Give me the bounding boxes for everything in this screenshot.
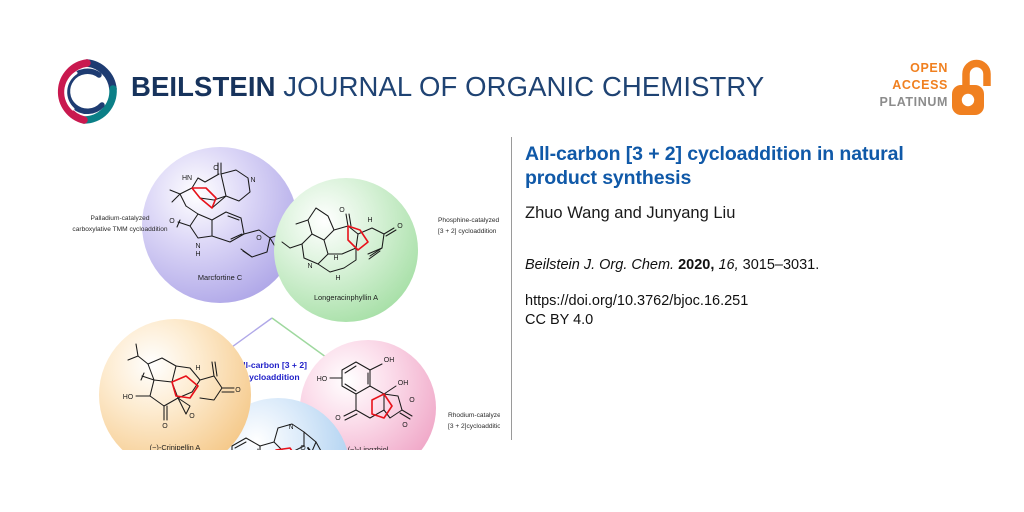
journal-brand: BEILSTEIN [131, 71, 276, 102]
crinipellin-atom-ho: HO [123, 394, 134, 401]
kopsanone-atom-n: N [288, 424, 293, 431]
open-access-line-platinum: PLATINUM [880, 94, 948, 111]
marcfortine-atom-o2: O [169, 218, 175, 225]
journal-name-rest: JOURNAL OF ORGANIC CHEMISTRY [276, 71, 765, 102]
crinipellin-atom-h: H [195, 365, 200, 372]
marcfortine-atom-n: N [250, 177, 255, 184]
page-header: BEILSTEIN JOURNAL OF ORGANIC CHEMISTRY O… [0, 0, 1024, 135]
crinipellin-atom-o: O [162, 423, 168, 430]
citation-volume: 16, [718, 257, 738, 273]
marcfortine-atom-hn: HN [182, 175, 192, 182]
label-rhodium: Rhodium-catalyzed [3 + 2]cycloaddition [448, 412, 500, 430]
open-access-line-open: OPEN [880, 60, 948, 77]
longera-atom-o: O [339, 207, 345, 214]
center-label-line1: All-carbon [3 + 2] [237, 360, 307, 370]
open-access-line-access: ACCESS [880, 77, 948, 94]
marcfortine-atom-o: O [213, 165, 219, 172]
crinipellin-atom-o2: O [189, 413, 195, 420]
label-phosphine: Phosphine-catalyzed [3 + 2] cycloadditio… [438, 217, 500, 235]
open-lock-icon [950, 59, 994, 117]
graphical-abstract: All-carbon [3 + 2] cycloaddition [20, 130, 500, 450]
citation-year: 2020, [678, 257, 714, 273]
longera-atom-n: N [307, 263, 312, 270]
citation-pages: 3015–3031. [743, 257, 820, 273]
article-info-panel: All-carbon [3 + 2] cycloaddition in natu… [525, 143, 955, 330]
svg-text:Rhodium-catalyzed: Rhodium-catalyzed [448, 412, 500, 419]
article-citation: Beilstein J. Org. Chem. 2020, 16, 3015–3… [525, 256, 955, 275]
molecule-name-lingzhiol: (−)-Lingzhiol [348, 445, 389, 450]
svg-text:[3 + 2]cycloaddition: [3 + 2]cycloaddition [448, 423, 500, 430]
marcfortine-atom-o3: O [256, 235, 262, 242]
lingzhiol-atom-oh2: OH [398, 380, 409, 387]
lingzhiol-atom-ho: HO [317, 376, 328, 383]
center-label-line2: cycloaddition [244, 372, 299, 382]
column-divider [511, 137, 512, 440]
svg-text:Palladium-catalyzed: Palladium-catalyzed [90, 215, 149, 222]
longera-atom-h: H [367, 217, 372, 224]
node-crinipellin[interactable]: HO O O O H (−)-Crinipellin A [99, 319, 251, 450]
open-access-words: OPEN ACCESS PLATINUM [880, 60, 948, 111]
molecule-name-longeracinphyllin: Longeracinphyllin A [314, 293, 378, 302]
lingzhiol-atom-oh: OH [384, 357, 395, 364]
longera-atom-h3: H [335, 275, 340, 282]
longera-atom-o2: O [397, 223, 403, 230]
molecule-name-marcfortine: Marcfortine C [198, 273, 243, 282]
citation-journal: Beilstein J. Org. Chem. [525, 257, 674, 273]
open-access-badge: OPEN ACCESS PLATINUM [884, 59, 994, 121]
svg-text:Phosphine-catalyzed: Phosphine-catalyzed [438, 217, 500, 224]
article-doi-link[interactable]: https://doi.org/10.3762/bjoc.16.251 [525, 292, 955, 311]
svg-text:[3 + 2] cycloaddition: [3 + 2] cycloaddition [438, 228, 497, 235]
node-longeracinphyllin[interactable]: O H O N H H Longeracinphyllin A [274, 178, 418, 322]
crinipellin-atom-o3: O [235, 387, 241, 394]
beilstein-ring-logo [53, 58, 121, 126]
article-authors: Zhuo Wang and Junyang Liu [525, 203, 955, 223]
node-marcfortine[interactable]: O HN N O N H O Marcfortine C [142, 147, 298, 303]
lingzhiol-atom-o3: O [402, 422, 408, 429]
journal-title: BEILSTEIN JOURNAL OF ORGANIC CHEMISTRY [131, 71, 764, 103]
marcfortine-atom-h: H [195, 251, 200, 258]
lingzhiol-atom-o: O [335, 415, 341, 422]
kopsanone-atom-o: O [300, 445, 306, 450]
article-license: CC BY 4.0 [525, 311, 955, 330]
lingzhiol-atom-o2: O [409, 397, 415, 404]
molecule-name-crinipellin: (−)-Crinipellin A [150, 443, 201, 450]
marcfortine-atom-nh: N [195, 243, 200, 250]
article-title: All-carbon [3 + 2] cycloaddition in natu… [525, 143, 955, 190]
longera-atom-h2: H [333, 255, 338, 262]
svg-text:carboxylative TMM cycloadditio: carboxylative TMM cycloaddition [72, 226, 167, 233]
